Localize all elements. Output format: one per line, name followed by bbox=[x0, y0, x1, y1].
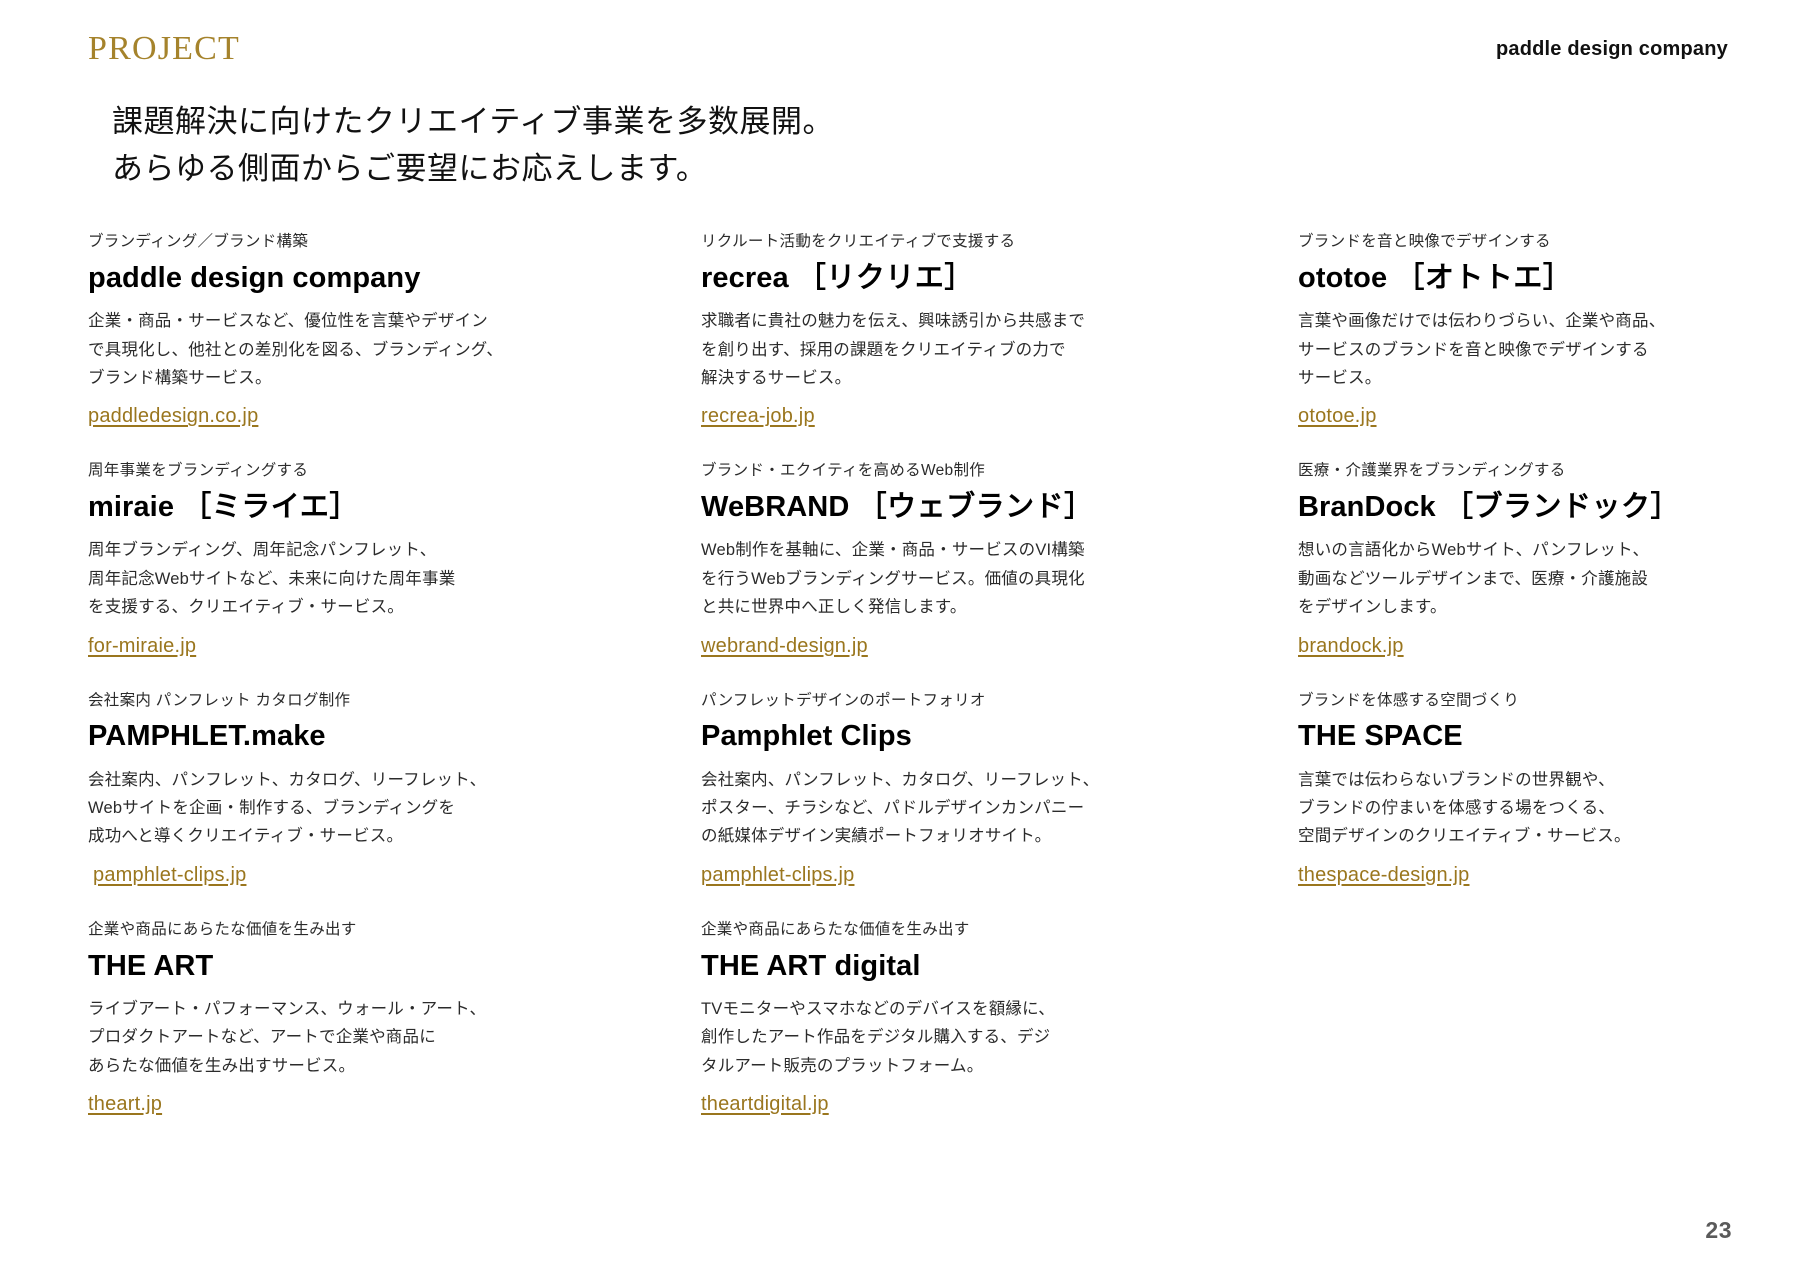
service-card: パンフレットデザインのポートフォリオ Pamphlet Clips 会社案内、パ… bbox=[701, 691, 1298, 887]
service-title: THE ART digital bbox=[701, 949, 1298, 983]
service-title: THE ART bbox=[88, 949, 701, 983]
service-description-line: 求職者に貴社の魅力を伝え、興味誘引から共感まで bbox=[701, 307, 1298, 335]
service-link[interactable]: thespace-design.jp bbox=[1298, 863, 1470, 887]
service-description-line: 解決するサービス。 bbox=[701, 364, 1298, 392]
service-title: PAMPHLET.make bbox=[88, 719, 701, 753]
service-title: miraie ［ミライエ］ bbox=[88, 490, 701, 524]
service-title-jp: ［ブランドック］ bbox=[1444, 491, 1680, 523]
service-link[interactable]: theartdigital.jp bbox=[701, 1092, 829, 1116]
service-title-en: Pamphlet Clips bbox=[701, 720, 912, 752]
service-title-jp: ［リクリエ］ bbox=[797, 262, 974, 294]
service-card: 会社案内 パンフレット カタログ制作 PAMPHLET.make 会社案内、パン… bbox=[88, 691, 701, 887]
service-description: 企業・商品・サービスなど、優位性を言葉やデザイン で具現化し、他社との差別化を図… bbox=[88, 307, 701, 392]
service-description-line: あらたな価値を生み出すサービス。 bbox=[88, 1052, 701, 1080]
service-description-line: 周年記念Webサイトなど、未来に向けた周年事業 bbox=[88, 565, 701, 593]
page-number: 23 bbox=[1705, 1217, 1732, 1244]
service-card: ブランドを音と映像でデザインする ototoe ［オトトエ］ 言葉や画像だけでは… bbox=[1298, 232, 1728, 428]
service-card: ブランド・エクイティを高めるWeb制作 WeBRAND ［ウェブランド］ Web… bbox=[701, 461, 1298, 657]
service-description-line: 言葉では伝わらないブランドの世界観や、 bbox=[1298, 766, 1728, 794]
service-title-en: THE ART digital bbox=[701, 950, 921, 982]
service-description-line: ブランド構築サービス。 bbox=[88, 364, 701, 392]
service-description: 会社案内、パンフレット、カタログ、リーフレット、 ポスター、チラシなど、パドルデ… bbox=[701, 766, 1298, 851]
service-eyebrow: パンフレットデザインのポートフォリオ bbox=[701, 691, 1298, 712]
service-eyebrow: ブランディング／ブランド構築 bbox=[88, 232, 701, 253]
service-eyebrow: ブランド・エクイティを高めるWeb制作 bbox=[701, 461, 1298, 482]
service-description-line: 会社案内、パンフレット、カタログ、リーフレット、 bbox=[701, 766, 1298, 794]
service-description: 言葉では伝わらないブランドの世界観や、 ブランドの佇まいを体感する場をつくる、 … bbox=[1298, 766, 1728, 851]
service-link[interactable]: brandock.jp bbox=[1298, 634, 1404, 658]
service-title-en: paddle design company bbox=[88, 262, 420, 294]
service-eyebrow: ブランドを体感する空間づくり bbox=[1298, 691, 1728, 712]
service-description-line: ライブアート・パフォーマンス、ウォール・アート、 bbox=[88, 995, 701, 1023]
service-link[interactable]: recrea-job.jp bbox=[701, 404, 815, 428]
service-description-line: 言葉や画像だけでは伝わりづらい、企業や商品、 bbox=[1298, 307, 1728, 335]
lead-copy: 課題解決に向けたクリエイティブ事業を多数展開。 あらゆる側面からご要望にお応えし… bbox=[112, 98, 834, 192]
service-description-line: と共に世界中へ正しく発信します。 bbox=[701, 593, 1298, 621]
service-description-line: Web制作を基軸に、企業・商品・サービスのVI構築 bbox=[701, 536, 1298, 564]
service-card: 周年事業をブランディングする miraie ［ミライエ］ 周年ブランディング、周… bbox=[88, 461, 701, 657]
service-title-en: THE ART bbox=[88, 950, 213, 982]
service-title: paddle design company bbox=[88, 261, 701, 295]
service-title-jp: ［ウェブランド］ bbox=[858, 491, 1094, 523]
service-title: THE SPACE bbox=[1298, 719, 1728, 753]
service-description-line: 創作したアート作品をデジタル購入する、デジ bbox=[701, 1023, 1298, 1051]
service-description-line: 成功へと導くクリエイティブ・サービス。 bbox=[88, 822, 701, 850]
service-link[interactable]: theart.jp bbox=[88, 1092, 162, 1116]
service-title: ototoe ［オトトエ］ bbox=[1298, 261, 1728, 295]
service-title-en: ototoe bbox=[1298, 262, 1387, 294]
service-eyebrow: 医療・介護業界をブランディングする bbox=[1298, 461, 1728, 482]
service-description: 求職者に貴社の魅力を伝え、興味誘引から共感まで を創り出す、採用の課題をクリエイ… bbox=[701, 307, 1298, 392]
service-description-line: ブランドの佇まいを体感する場をつくる、 bbox=[1298, 794, 1728, 822]
service-card: 企業や商品にあらたな価値を生み出す THE ART digital TVモニター… bbox=[701, 920, 1298, 1116]
service-eyebrow: リクルート活動をクリエイティブで支援する bbox=[701, 232, 1298, 253]
service-description: TVモニターやスマホなどのデバイスを額縁に、 創作したアート作品をデジタル購入す… bbox=[701, 995, 1298, 1080]
service-title: Pamphlet Clips bbox=[701, 719, 1298, 753]
service-title: recrea ［リクリエ］ bbox=[701, 261, 1298, 295]
service-description-line: 空間デザインのクリエイティブ・サービス。 bbox=[1298, 822, 1728, 850]
service-description-line: サービス。 bbox=[1298, 364, 1728, 392]
service-link[interactable]: webrand-design.jp bbox=[701, 634, 868, 658]
lead-line-2: あらゆる側面からご要望にお応えします。 bbox=[112, 145, 834, 192]
service-description-line: Webサイトを企画・制作する、ブランディングを bbox=[88, 794, 701, 822]
service-eyebrow: 企業や商品にあらたな価値を生み出す bbox=[701, 920, 1298, 941]
service-description-line: ポスター、チラシなど、パドルデザインカンパニー bbox=[701, 794, 1298, 822]
service-description-line: で具現化し、他社との差別化を図る、ブランディング、 bbox=[88, 336, 701, 364]
service-link[interactable]: ototoe.jp bbox=[1298, 404, 1377, 428]
service-description-line: 周年ブランディング、周年記念パンフレット、 bbox=[88, 536, 701, 564]
service-card: ブランドを体感する空間づくり THE SPACE 言葉では伝わらないブランドの世… bbox=[1298, 691, 1728, 887]
service-card: リクルート活動をクリエイティブで支援する recrea ［リクリエ］ 求職者に貴… bbox=[701, 232, 1298, 428]
lead-line-1: 課題解決に向けたクリエイティブ事業を多数展開。 bbox=[112, 98, 834, 145]
service-title-jp: ［ミライエ］ bbox=[182, 491, 359, 523]
service-card: 医療・介護業界をブランディングする BranDock ［ブランドック］ 想いの言… bbox=[1298, 461, 1728, 657]
service-description: ライブアート・パフォーマンス、ウォール・アート、 プロダクトアートなど、アートで… bbox=[88, 995, 701, 1080]
service-link[interactable]: pamphlet-clips.jp bbox=[93, 863, 246, 887]
service-description-line: 動画などツールデザインまで、医療・介護施設 bbox=[1298, 565, 1728, 593]
service-link[interactable]: paddledesign.co.jp bbox=[88, 404, 258, 428]
service-description-line: 会社案内、パンフレット、カタログ、リーフレット、 bbox=[88, 766, 701, 794]
service-eyebrow: 周年事業をブランディングする bbox=[88, 461, 701, 482]
service-description-line: サービスのブランドを音と映像でデザインする bbox=[1298, 336, 1728, 364]
service-description-line: を支援する、クリエイティブ・サービス。 bbox=[88, 593, 701, 621]
service-title-en: PAMPHLET.make bbox=[88, 720, 326, 752]
service-eyebrow: 会社案内 パンフレット カタログ制作 bbox=[88, 691, 701, 712]
service-description-line: を行うWebブランディングサービス。価値の具現化 bbox=[701, 565, 1298, 593]
service-description-line: を創り出す、採用の課題をクリエイティブの力で bbox=[701, 336, 1298, 364]
service-title-en: BranDock bbox=[1298, 491, 1436, 523]
service-eyebrow: ブランドを音と映像でデザインする bbox=[1298, 232, 1728, 253]
service-description-line: プロダクトアートなど、アートで企業や商品に bbox=[88, 1023, 701, 1051]
service-description-line: タルアート販売のプラットフォーム。 bbox=[701, 1052, 1298, 1080]
service-description: 想いの言語化からWebサイト、パンフレット、 動画などツールデザインまで、医療・… bbox=[1298, 536, 1728, 621]
service-title-en: WeBRAND bbox=[701, 491, 849, 523]
service-title: WeBRAND ［ウェブランド］ bbox=[701, 490, 1298, 524]
service-grid: ブランディング／ブランド構築 paddle design company 企業・… bbox=[88, 232, 1728, 1116]
service-title-en: THE SPACE bbox=[1298, 720, 1463, 752]
service-description-line: をデザインします。 bbox=[1298, 593, 1728, 621]
service-title-en: recrea bbox=[701, 262, 789, 294]
service-description: 言葉や画像だけでは伝わりづらい、企業や商品、 サービスのブランドを音と映像でデザ… bbox=[1298, 307, 1728, 392]
service-description-line: 企業・商品・サービスなど、優位性を言葉やデザイン bbox=[88, 307, 701, 335]
service-card: ブランディング／ブランド構築 paddle design company 企業・… bbox=[88, 232, 701, 428]
service-description: 周年ブランディング、周年記念パンフレット、 周年記念Webサイトなど、未来に向け… bbox=[88, 536, 701, 621]
service-title-jp: ［オトトエ］ bbox=[1395, 262, 1572, 294]
service-eyebrow: 企業や商品にあらたな価値を生み出す bbox=[88, 920, 701, 941]
service-description-line: の紙媒体デザイン実績ポートフォリオサイト。 bbox=[701, 822, 1298, 850]
service-description: Web制作を基軸に、企業・商品・サービスのVI構築 を行うWebブランディングサ… bbox=[701, 536, 1298, 621]
service-title: BranDock ［ブランドック］ bbox=[1298, 490, 1728, 524]
service-description: 会社案内、パンフレット、カタログ、リーフレット、 Webサイトを企画・制作する、… bbox=[88, 766, 701, 851]
service-card: 企業や商品にあらたな価値を生み出す THE ART ライブアート・パフォーマンス… bbox=[88, 920, 701, 1116]
service-description-line: TVモニターやスマホなどのデバイスを額縁に、 bbox=[701, 995, 1298, 1023]
service-link[interactable]: for-miraie.jp bbox=[88, 634, 196, 658]
service-link[interactable]: pamphlet-clips.jp bbox=[701, 863, 854, 887]
service-title-en: miraie bbox=[88, 491, 174, 523]
page-title: PROJECT bbox=[88, 32, 240, 66]
page-header: PROJECT paddle design company bbox=[88, 26, 1728, 72]
service-description-line: 想いの言語化からWebサイト、パンフレット、 bbox=[1298, 536, 1728, 564]
company-logotype: paddle design company bbox=[1496, 38, 1728, 61]
